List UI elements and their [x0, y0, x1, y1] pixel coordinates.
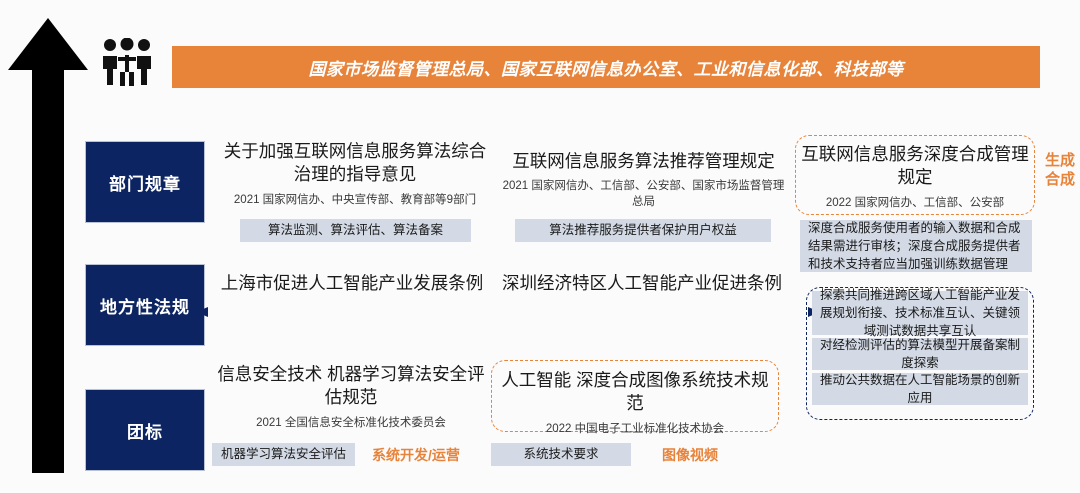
- row-label-text: 地方性法规: [100, 293, 190, 318]
- people-group-icon: [99, 38, 155, 90]
- authorities-banner-text: 国家市场监督管理总局、国家互联网信息办公室、工业和信息化部、科技部等: [309, 55, 904, 80]
- diagram-canvas: 国家市场监督管理总局、国家互联网信息办公室、工业和信息化部、科技部等 部门规章 …: [0, 0, 1080, 493]
- row-label-text: 部门规章: [109, 170, 181, 195]
- side-label-line-1: 生成: [1040, 152, 1080, 171]
- side-label-generative-synthesis: 生成 合成: [1040, 152, 1080, 190]
- doc-block-deep-synthesis-image-spec[interactable]: 人工智能 深度合成图像系统技术规范 2022 中国电子工业标准化技术协会: [496, 369, 774, 437]
- doc-title: 人工智能 深度合成图像系统技术规范: [496, 369, 774, 416]
- doc-title: 关于加强互联网信息服务算法综合治理的指导意见: [216, 140, 494, 187]
- doc-block-algorithm-governance[interactable]: 关于加强互联网信息服务算法综合治理的指导意见 2021 国家网信办、中央宣传部、…: [216, 140, 494, 208]
- row-label-text: 团标: [127, 418, 163, 443]
- side-label-line-2: 合成: [1040, 171, 1080, 190]
- doc-block-shanghai-ai-regulation[interactable]: 上海市促进人工智能产业发展条例: [212, 272, 492, 295]
- detail-local-1[interactable]: 探索共同推进跨区域人工智能产业发展规划衔接、技术标准互认、关键领域测试数据共享互…: [812, 291, 1028, 335]
- tag-system-dev-ops[interactable]: 系统开发/运营: [360, 443, 472, 466]
- doc-meta: 2021 国家网信办、工信部、公安部、国家市场监督管理总局: [500, 178, 787, 210]
- detail-local-2[interactable]: 对经检测评估的算法模型开展备案制度探索: [812, 338, 1028, 370]
- chip-ml-security-assessment[interactable]: 机器学习算法安全评估: [212, 443, 355, 466]
- detail-local-3[interactable]: 推动公共数据在人工智能场景的创新应用: [812, 373, 1028, 405]
- doc-meta: 2022 中国电子工业标准化技术协会: [496, 421, 774, 437]
- doc-block-shenzhen-ai-regulation[interactable]: 深圳经济特区人工智能产业促进条例: [494, 272, 790, 295]
- tag-image-video[interactable]: 图像视频: [645, 443, 735, 466]
- row-label-departmental-rules[interactable]: 部门规章: [86, 142, 204, 222]
- doc-title: 深圳经济特区人工智能产业促进条例: [494, 272, 790, 295]
- upward-arrow: [8, 18, 88, 473]
- doc-meta: 2021 全国信息安全标准化技术委员会: [216, 415, 486, 431]
- doc-title: 互联网信息服务深度合成管理规定: [800, 143, 1030, 190]
- row-label-local-regulations[interactable]: 地方性法规: [86, 265, 204, 345]
- chip-algorithm-governance[interactable]: 算法监测、算法评估、算法备案: [240, 219, 471, 242]
- chip-algorithm-recommendation[interactable]: 算法推荐服务提供者保护用户权益: [515, 219, 771, 242]
- doc-block-ml-security-assessment[interactable]: 信息安全技术 机器学习算法安全评估规范 2021 全国信息安全标准化技术委员会: [216, 363, 486, 431]
- doc-block-algorithm-recommendation[interactable]: 互联网信息服务算法推荐管理规定 2021 国家网信办、工信部、公安部、国家市场监…: [500, 150, 787, 210]
- row-label-group-standards[interactable]: 团标: [86, 390, 204, 470]
- doc-meta: 2021 国家网信办、中央宣传部、教育部等9部门: [216, 192, 494, 208]
- doc-title: 上海市促进人工智能产业发展条例: [212, 272, 492, 295]
- authorities-banner: 国家市场监督管理总局、国家互联网信息办公室、工业和信息化部、科技部等: [172, 46, 1040, 88]
- doc-meta: 2022 国家网信办、工信部、公安部: [800, 195, 1030, 211]
- doc-title: 信息安全技术 机器学习算法安全评估规范: [216, 363, 486, 410]
- doc-block-deep-synthesis-rules[interactable]: 互联网信息服务深度合成管理规定 2022 国家网信办、工信部、公安部: [800, 143, 1030, 211]
- doc-title: 互联网信息服务算法推荐管理规定: [500, 150, 787, 173]
- detail-deep-synthesis-rules[interactable]: 深度合成服务使用者的输入数据和合成结果需进行审核；深度合成服务提供者和技术支持者…: [800, 220, 1032, 272]
- chip-system-tech-requirements[interactable]: 系统技术要求: [491, 443, 631, 466]
- double-headed-arrow: [196, 305, 820, 319]
